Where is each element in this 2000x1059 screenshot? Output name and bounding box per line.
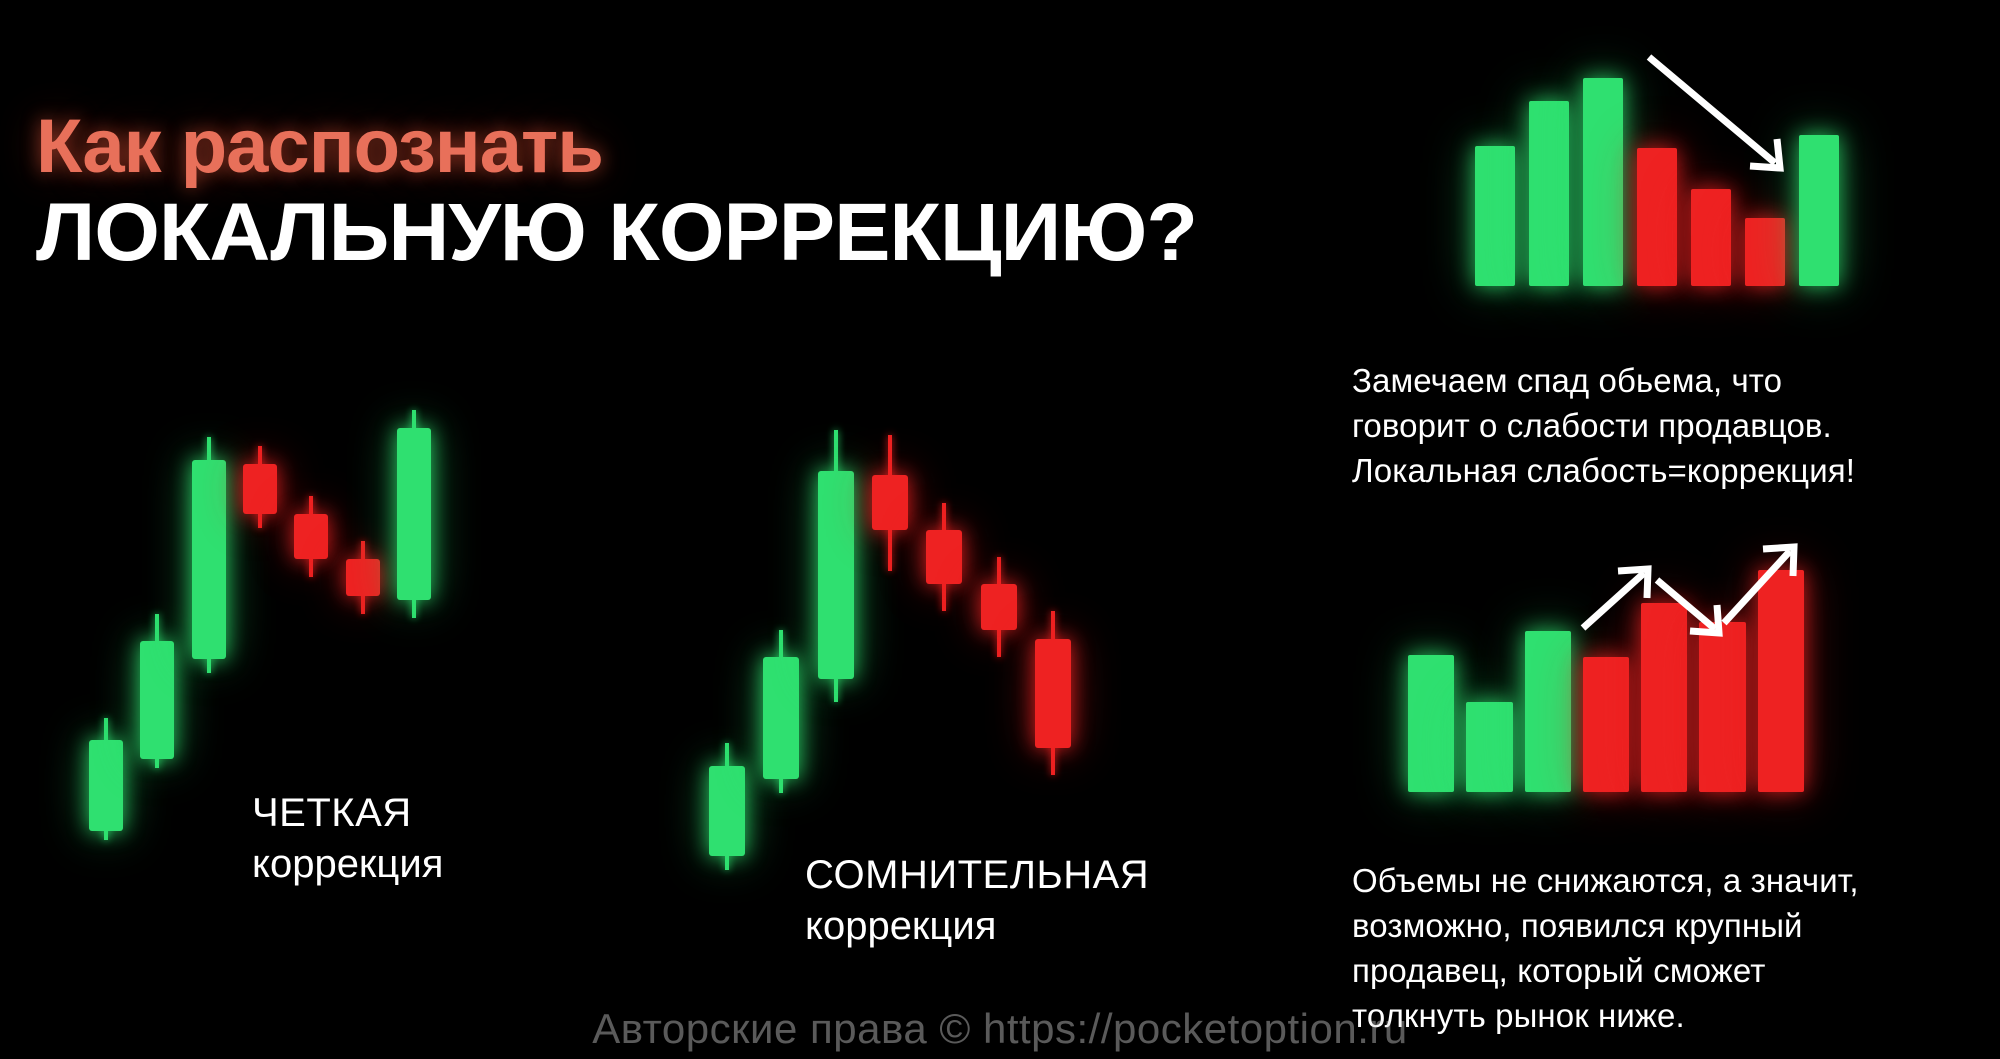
chart-label-clear-line1: ЧЕТКАЯ xyxy=(252,788,443,838)
candle-up xyxy=(397,410,431,840)
volume-chart-declining xyxy=(1468,78,1846,286)
candle-body xyxy=(709,766,745,857)
candle-down xyxy=(1035,430,1071,870)
title-line-accent: Как распознать xyxy=(36,108,1336,186)
candle-up xyxy=(140,410,174,840)
candle-up xyxy=(709,430,745,870)
volume-chart-sustained xyxy=(1402,570,1810,792)
candlestick-chart-clear-correction xyxy=(80,410,440,840)
copyright-watermark: Авторские права © https://pocketoption.r… xyxy=(0,1005,2000,1053)
volume-bar-down xyxy=(1691,189,1731,286)
candle-body xyxy=(1035,639,1071,748)
candlestick-chart-doubtful-correction xyxy=(700,430,1080,870)
title-line-main: ЛОКАЛЬНУЮ КОРРЕКЦИЮ? xyxy=(36,190,1375,276)
candle-body xyxy=(872,475,908,529)
chart-label-doubtful-correction: СОМНИТЕЛЬНАЯ коррекция xyxy=(805,850,1149,952)
volume-bar-down xyxy=(1583,657,1629,792)
volume-bar-down xyxy=(1758,570,1804,792)
candle-body xyxy=(243,464,277,514)
candle-body xyxy=(192,460,226,659)
volume-bar-down xyxy=(1641,603,1687,792)
volume-bar-up xyxy=(1475,146,1515,286)
chart-label-clear-correction: ЧЕТКАЯ коррекция xyxy=(252,788,443,890)
candle-body xyxy=(926,530,962,584)
candle-down xyxy=(872,430,908,870)
candle-down xyxy=(294,410,328,840)
chart-label-doubtful-line1: СОМНИТЕЛЬНАЯ xyxy=(805,850,1149,900)
note-declining-volume: Замечаем спад обьема, что говорит о слаб… xyxy=(1352,358,1972,493)
volume-bar-up xyxy=(1529,101,1569,286)
chart-label-clear-line2: коррекция xyxy=(252,838,443,890)
candle-body xyxy=(397,428,431,600)
candle-up xyxy=(89,410,123,840)
chart-label-doubtful-line2: коррекция xyxy=(805,900,1149,952)
candle-up xyxy=(818,430,854,870)
candle-down xyxy=(346,410,380,840)
candle-body xyxy=(294,514,328,559)
volume-bar-down xyxy=(1699,622,1745,792)
candle-body xyxy=(89,740,123,831)
volume-bar-up xyxy=(1799,135,1839,286)
candle-body xyxy=(140,641,174,759)
candle-body xyxy=(763,657,799,779)
candle-body xyxy=(346,559,380,595)
volume-bar-up xyxy=(1408,655,1454,792)
page-title: Как распознать ЛОКАЛЬНУЮ КОРРЕКЦИЮ? xyxy=(36,108,1336,276)
infographic-canvas: Как распознать ЛОКАЛЬНУЮ КОРРЕКЦИЮ? ЧЕТК… xyxy=(0,0,2000,1059)
volume-bar-up xyxy=(1583,78,1623,286)
candle-body xyxy=(981,584,1017,629)
candle-up xyxy=(763,430,799,870)
volume-bar-up xyxy=(1466,702,1512,792)
volume-bar-down xyxy=(1637,148,1677,286)
volume-bar-down xyxy=(1745,218,1785,286)
candle-body xyxy=(818,471,854,680)
volume-bar-up xyxy=(1525,631,1571,792)
candle-down xyxy=(981,430,1017,870)
candle-up xyxy=(192,410,226,840)
candle-down xyxy=(926,430,962,870)
candle-down xyxy=(243,410,277,840)
